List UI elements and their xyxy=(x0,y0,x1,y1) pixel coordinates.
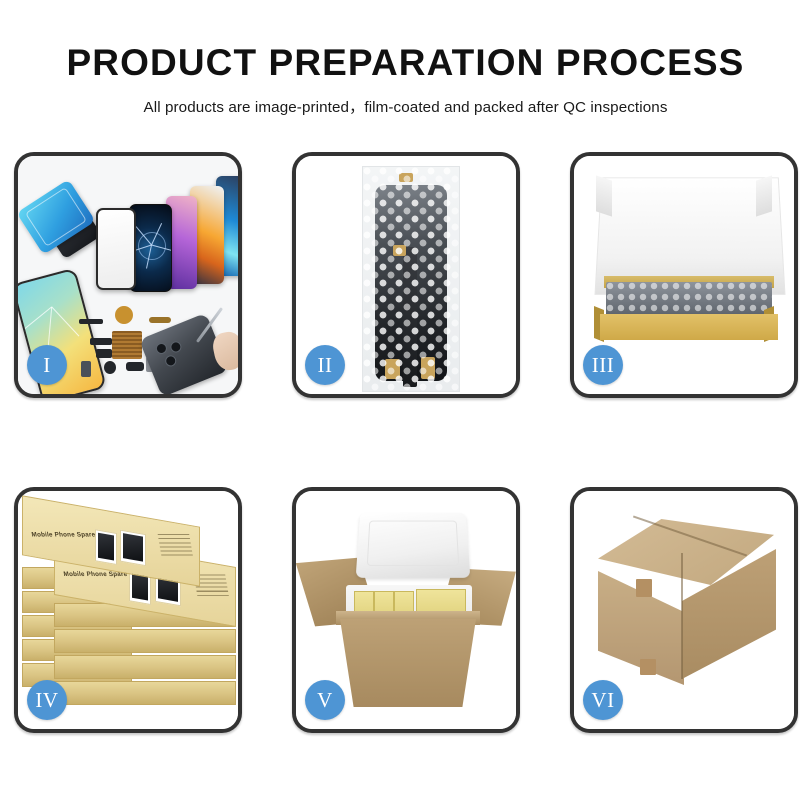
step-badge-1: I xyxy=(27,345,67,385)
carton-corner-seam xyxy=(681,553,683,679)
box-edge xyxy=(54,681,236,705)
process-step-card-3: III xyxy=(570,152,798,398)
step-badge-5: V xyxy=(305,680,345,720)
process-step-card-4: Mobile Phone Spare Parts Mobile Phone Sp… xyxy=(14,487,242,733)
page-subtitle: All products are image-printed，film-coat… xyxy=(0,83,811,117)
process-step-grid: I II xyxy=(14,152,800,733)
carton-tape xyxy=(636,579,652,597)
step-badge-3: III xyxy=(583,345,623,385)
flex-cable-icon xyxy=(149,317,171,323)
page-title: PRODUCT PREPARATION PROCESS xyxy=(0,44,811,83)
connector-grid-icon xyxy=(112,331,142,359)
step-badge-4: IV xyxy=(27,680,67,720)
small-part-icon xyxy=(81,361,91,377)
camera-module-icon xyxy=(126,362,144,371)
process-step-card-6: VI xyxy=(570,487,798,733)
small-part-icon xyxy=(96,349,112,358)
box-flap-left-icon xyxy=(596,175,612,216)
earpiece-part-icon xyxy=(79,319,103,324)
box-flap-right-icon xyxy=(756,175,772,216)
process-step-card-1: I xyxy=(14,152,242,398)
step-badge-6: VI xyxy=(583,680,623,720)
tempered-glass-icon xyxy=(96,208,136,290)
bubble-wrap-filling xyxy=(606,282,772,316)
step-badge-2: II xyxy=(305,345,345,385)
vibrator-part-icon xyxy=(104,361,116,374)
box-edge xyxy=(54,629,236,653)
retail-box-spec-lines xyxy=(157,531,193,555)
small-part-icon xyxy=(90,338,112,345)
bubble-texture xyxy=(363,167,459,391)
box-front-panel xyxy=(600,314,778,340)
header: PRODUCT PREPARATION PROCESS All products… xyxy=(0,0,811,117)
carton-body xyxy=(340,619,476,707)
carton-tape xyxy=(640,659,656,675)
process-step-card-2: II xyxy=(292,152,520,398)
speaker-part-icon xyxy=(115,306,133,324)
box-edge xyxy=(54,655,236,679)
foam-lid-icon xyxy=(356,513,471,578)
process-step-card-5: V xyxy=(292,487,520,733)
bubble-wrap-package xyxy=(362,166,460,392)
